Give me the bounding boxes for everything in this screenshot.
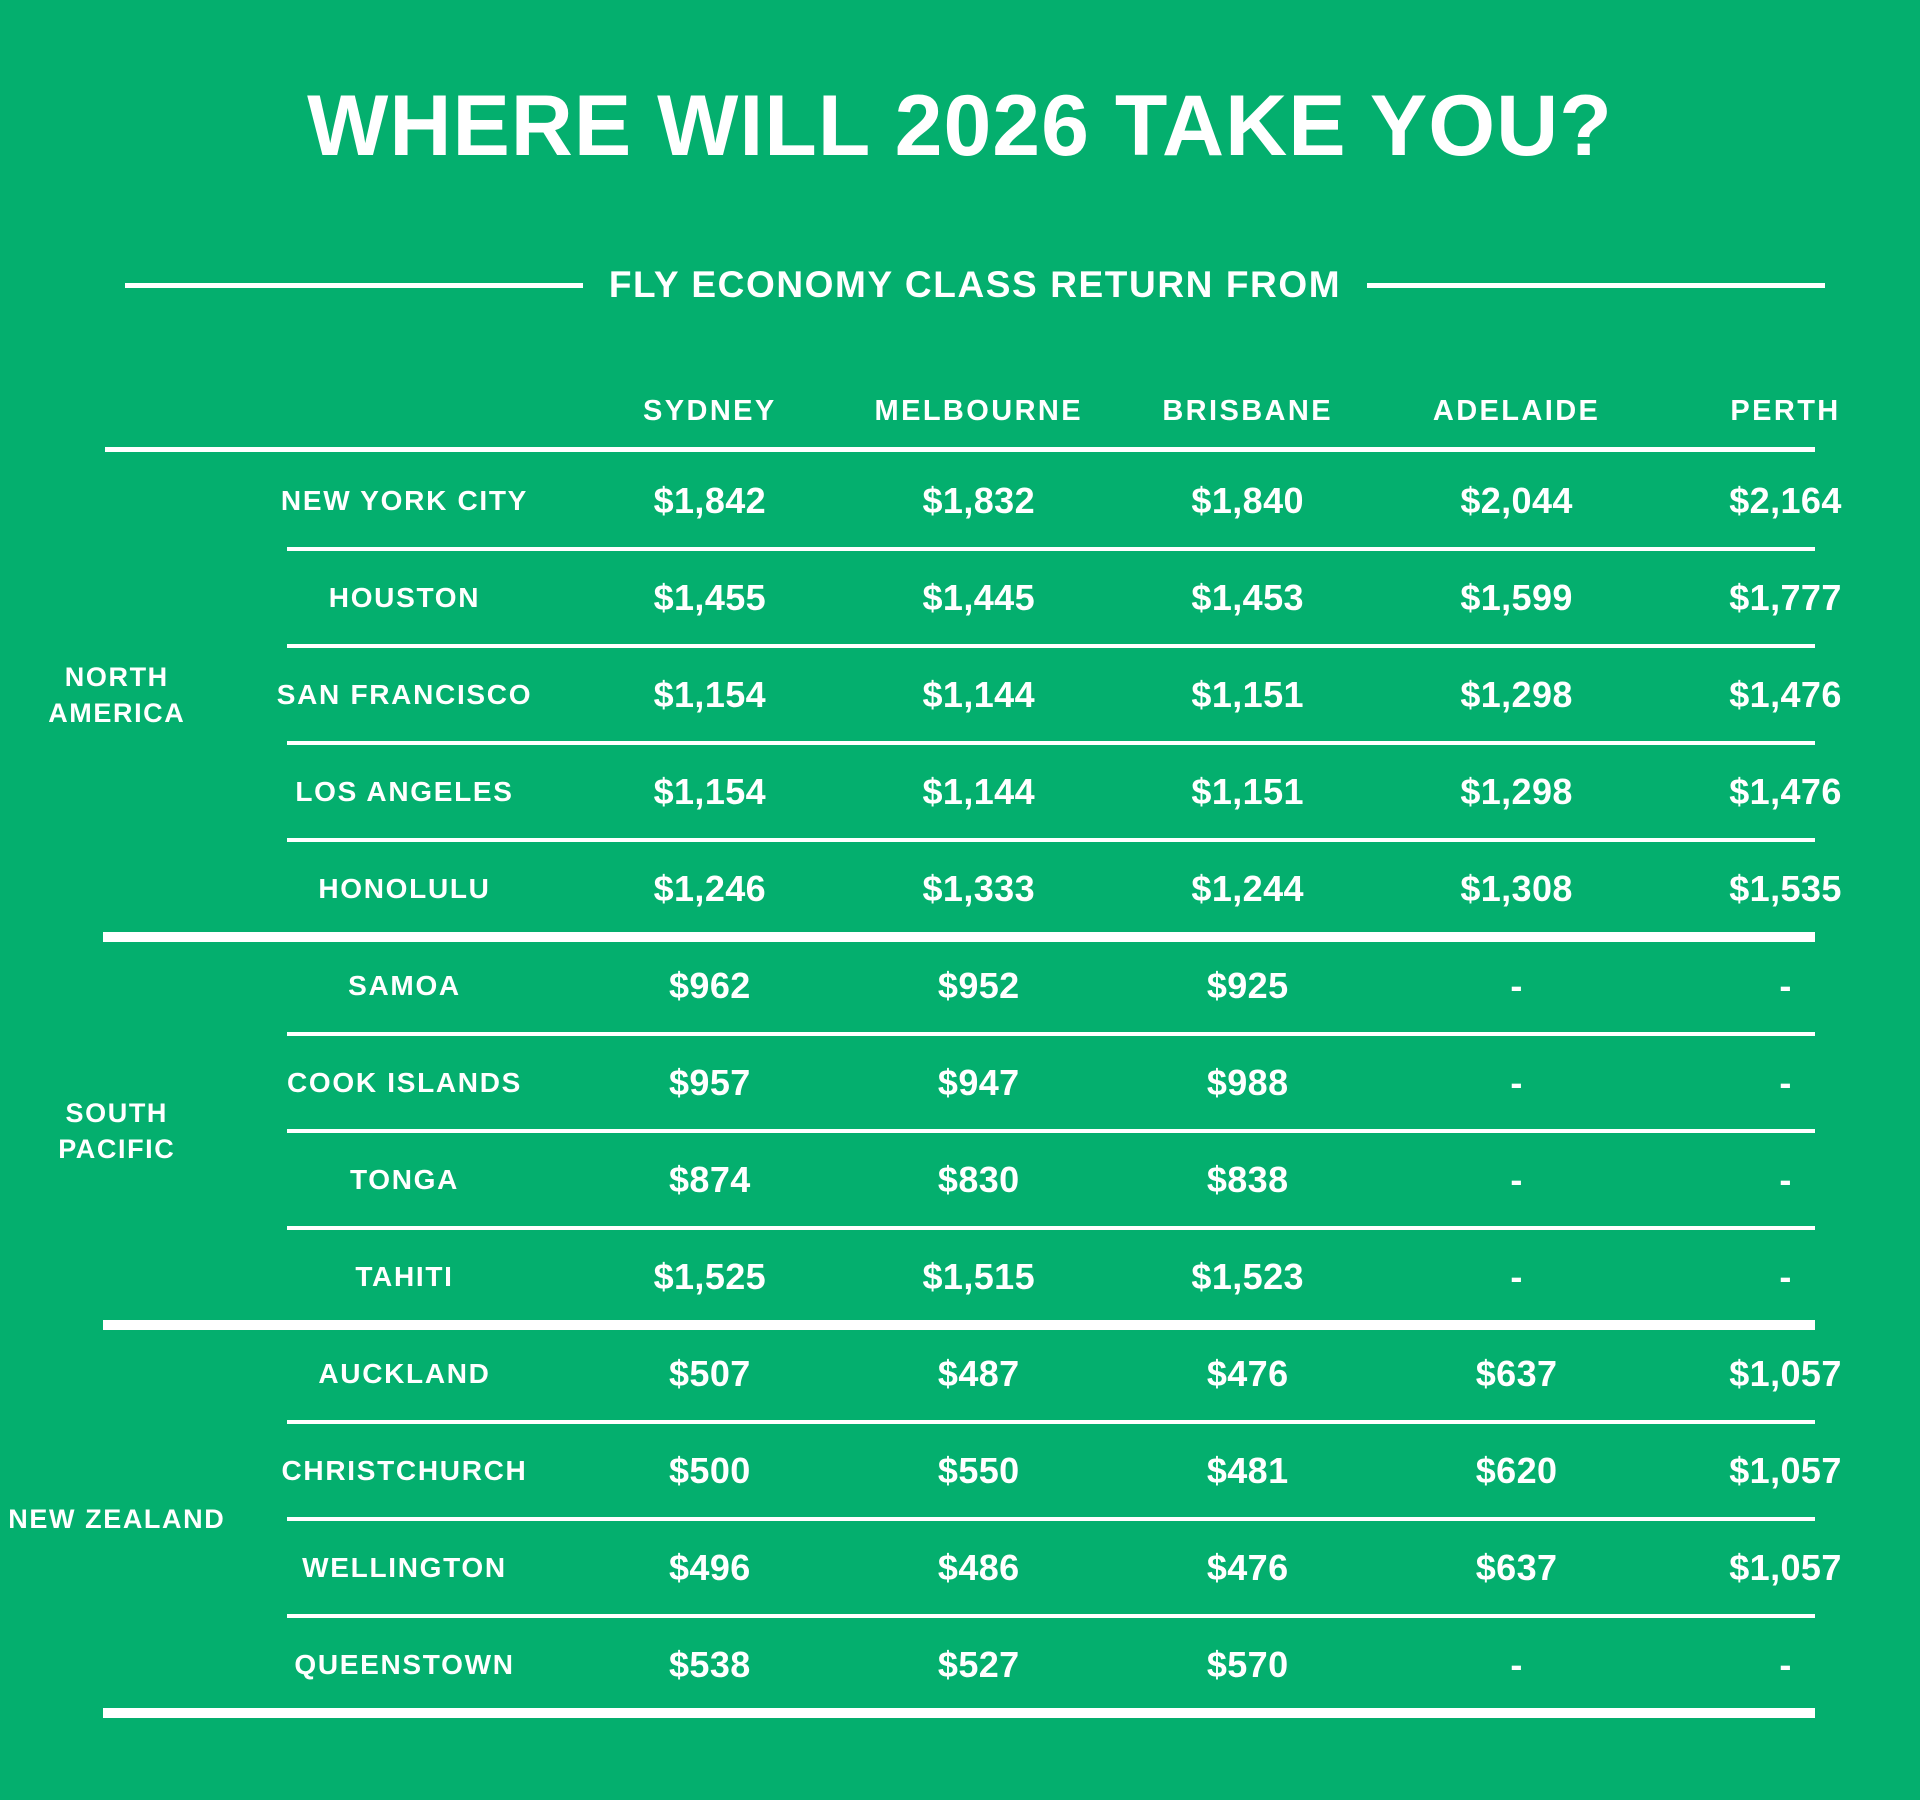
destination-label: CHRISTCHURCH <box>234 1422 576 1519</box>
fare-cell: $486 <box>844 1519 1113 1616</box>
column-header-perth: PERTH <box>1651 380 1920 452</box>
fare-cell: $2,164 <box>1651 452 1920 549</box>
destination-label: WELLINGTON <box>234 1519 576 1616</box>
row-divider <box>287 1614 1815 1618</box>
destination-label: NEW YORK CITY <box>234 452 576 549</box>
fare-cell: $1,777 <box>1651 549 1920 646</box>
fare-cell: $1,154 <box>575 743 844 840</box>
table-row: CHRISTCHURCH$500$550$481$620$1,057 <box>0 1422 1920 1519</box>
table-row: SAN FRANCISCO$1,154$1,144$1,151$1,298$1,… <box>0 646 1920 743</box>
row-divider <box>287 1032 1815 1036</box>
fare-cell: $874 <box>575 1131 844 1228</box>
fare-cell: $620 <box>1382 1422 1651 1519</box>
fare-cell: $1,298 <box>1382 743 1651 840</box>
fare-cell: $1,445 <box>844 549 1113 646</box>
section-divider <box>103 932 1815 942</box>
fare-cell: $1,523 <box>1113 1228 1382 1325</box>
subtitle-rule-left <box>125 283 583 288</box>
fare-cell: $1,455 <box>575 549 844 646</box>
section-divider <box>103 1708 1815 1718</box>
fare-cell: $1,244 <box>1113 840 1382 937</box>
fare-cell: - <box>1651 937 1920 1034</box>
fare-cell: $947 <box>844 1034 1113 1131</box>
fare-cell: - <box>1382 1228 1651 1325</box>
fare-cell: $637 <box>1382 1519 1651 1616</box>
fare-poster: WHERE WILL 2026 TAKE YOU? FLY ECONOMY CL… <box>0 0 1920 1800</box>
fare-cell: $1,840 <box>1113 452 1382 549</box>
column-header-adelaide: ADELAIDE <box>1382 380 1651 452</box>
destination-label: AUCKLAND <box>234 1325 576 1422</box>
row-divider <box>287 1420 1815 1424</box>
row-divider <box>287 1129 1815 1133</box>
fare-cell: - <box>1382 1034 1651 1131</box>
row-divider <box>287 741 1815 745</box>
fare-cell: $1,057 <box>1651 1422 1920 1519</box>
table-row: TONGA$874$830$838-- <box>0 1131 1920 1228</box>
fare-table-body: NORTHAMERICANEW YORK CITY$1,842$1,832$1,… <box>0 452 1920 1713</box>
column-header-row: SYDNEYMELBOURNEBRISBANEADELAIDEPERTH <box>0 380 1920 452</box>
subtitle-row: FLY ECONOMY CLASS RETURN FROM <box>125 255 1825 315</box>
column-header-melbourne: MELBOURNE <box>844 380 1113 452</box>
fare-cell: $925 <box>1113 937 1382 1034</box>
table-row: SOUTHPACIFICSAMOA$962$952$925-- <box>0 937 1920 1034</box>
fare-cell: $1,057 <box>1651 1519 1920 1616</box>
region-label-line: NORTH <box>65 662 169 692</box>
row-divider <box>287 547 1815 551</box>
page-title: WHERE WILL 2026 TAKE YOU? <box>0 78 1920 174</box>
destination-label: COOK ISLANDS <box>234 1034 576 1131</box>
region-label-line: SOUTH <box>66 1098 169 1128</box>
destination-label: TAHITI <box>234 1228 576 1325</box>
fare-cell: $1,515 <box>844 1228 1113 1325</box>
section-divider <box>103 1320 1815 1330</box>
table-row: HOUSTON$1,455$1,445$1,453$1,599$1,777 <box>0 549 1920 646</box>
header-cell-region <box>0 380 234 452</box>
header-cell-destination <box>234 380 576 452</box>
destination-label: SAMOA <box>234 937 576 1034</box>
row-divider <box>287 644 1815 648</box>
fare-cell: $838 <box>1113 1131 1382 1228</box>
fare-cell: $1,525 <box>575 1228 844 1325</box>
fare-cell: $1,308 <box>1382 840 1651 937</box>
table-row: HONOLULU$1,246$1,333$1,244$1,308$1,535 <box>0 840 1920 937</box>
fare-cell: $1,151 <box>1113 743 1382 840</box>
fare-cell: $550 <box>844 1422 1113 1519</box>
table-row: NORTHAMERICANEW YORK CITY$1,842$1,832$1,… <box>0 452 1920 549</box>
fare-cell: $830 <box>844 1131 1113 1228</box>
fare-cell: $1,333 <box>844 840 1113 937</box>
fare-cell: - <box>1382 1616 1651 1713</box>
table-row: COOK ISLANDS$957$947$988-- <box>0 1034 1920 1131</box>
row-divider <box>287 1517 1815 1521</box>
column-header-sydney: SYDNEY <box>575 380 844 452</box>
fare-cell: $1,144 <box>844 743 1113 840</box>
region-label-line: NEW ZEALAND <box>8 1504 225 1534</box>
region-label-north-america: NORTHAMERICA <box>0 452 234 937</box>
fare-cell: $500 <box>575 1422 844 1519</box>
subtitle-rule-right <box>1367 283 1825 288</box>
fare-table-head: SYDNEYMELBOURNEBRISBANEADELAIDEPERTH <box>0 380 1920 452</box>
destination-label: HONOLULU <box>234 840 576 937</box>
fare-cell: $1,832 <box>844 452 1113 549</box>
fare-cell: $1,154 <box>575 646 844 743</box>
fare-cell: $1,298 <box>1382 646 1651 743</box>
fare-cell: - <box>1651 1228 1920 1325</box>
fare-cell: $1,057 <box>1651 1325 1920 1422</box>
destination-label: SAN FRANCISCO <box>234 646 576 743</box>
fare-cell: $570 <box>1113 1616 1382 1713</box>
table-row: QUEENSTOWN$538$527$570-- <box>0 1616 1920 1713</box>
fare-cell: $496 <box>575 1519 844 1616</box>
region-label-new-zealand: NEW ZEALAND <box>0 1325 234 1713</box>
fare-cell: $962 <box>575 937 844 1034</box>
fare-cell: $1,453 <box>1113 549 1382 646</box>
table-row: WELLINGTON$496$486$476$637$1,057 <box>0 1519 1920 1616</box>
fare-cell: $1,151 <box>1113 646 1382 743</box>
table-row: TAHITI$1,525$1,515$1,523-- <box>0 1228 1920 1325</box>
fare-cell: $1,535 <box>1651 840 1920 937</box>
table-row: LOS ANGELES$1,154$1,144$1,151$1,298$1,47… <box>0 743 1920 840</box>
fare-cell: $2,044 <box>1382 452 1651 549</box>
fare-cell: $1,476 <box>1651 743 1920 840</box>
fare-cell: $1,144 <box>844 646 1113 743</box>
fare-cell: - <box>1382 937 1651 1034</box>
fare-cell: $476 <box>1113 1325 1382 1422</box>
fare-cell: $957 <box>575 1034 844 1131</box>
fare-cell: $1,246 <box>575 840 844 937</box>
fare-cell: - <box>1651 1034 1920 1131</box>
fare-table: SYDNEYMELBOURNEBRISBANEADELAIDEPERTH NOR… <box>0 380 1920 1713</box>
subtitle-text: FLY ECONOMY CLASS RETURN FROM <box>609 265 1341 305</box>
destination-label: HOUSTON <box>234 549 576 646</box>
region-label-south-pacific: SOUTHPACIFIC <box>0 937 234 1325</box>
header-divider <box>105 447 1815 452</box>
fare-cell: $637 <box>1382 1325 1651 1422</box>
table-row: NEW ZEALANDAUCKLAND$507$487$476$637$1,05… <box>0 1325 1920 1422</box>
fare-table-wrapper: SYDNEYMELBOURNEBRISBANEADELAIDEPERTH NOR… <box>0 380 1920 1713</box>
destination-label: TONGA <box>234 1131 576 1228</box>
row-divider <box>287 1226 1815 1230</box>
row-divider <box>287 838 1815 842</box>
fare-cell: $476 <box>1113 1519 1382 1616</box>
fare-cell: $1,476 <box>1651 646 1920 743</box>
fare-cell: $988 <box>1113 1034 1382 1131</box>
fare-cell: - <box>1651 1616 1920 1713</box>
destination-label: LOS ANGELES <box>234 743 576 840</box>
fare-cell: - <box>1651 1131 1920 1228</box>
region-label-line: AMERICA <box>48 698 185 728</box>
fare-cell: $487 <box>844 1325 1113 1422</box>
region-label-line: PACIFIC <box>58 1134 175 1164</box>
fare-cell: $481 <box>1113 1422 1382 1519</box>
column-header-brisbane: BRISBANE <box>1113 380 1382 452</box>
fare-cell: $527 <box>844 1616 1113 1713</box>
fare-cell: $538 <box>575 1616 844 1713</box>
fare-cell: $507 <box>575 1325 844 1422</box>
fare-cell: - <box>1382 1131 1651 1228</box>
destination-label: QUEENSTOWN <box>234 1616 576 1713</box>
fare-cell: $952 <box>844 937 1113 1034</box>
fare-cell: $1,842 <box>575 452 844 549</box>
fare-cell: $1,599 <box>1382 549 1651 646</box>
